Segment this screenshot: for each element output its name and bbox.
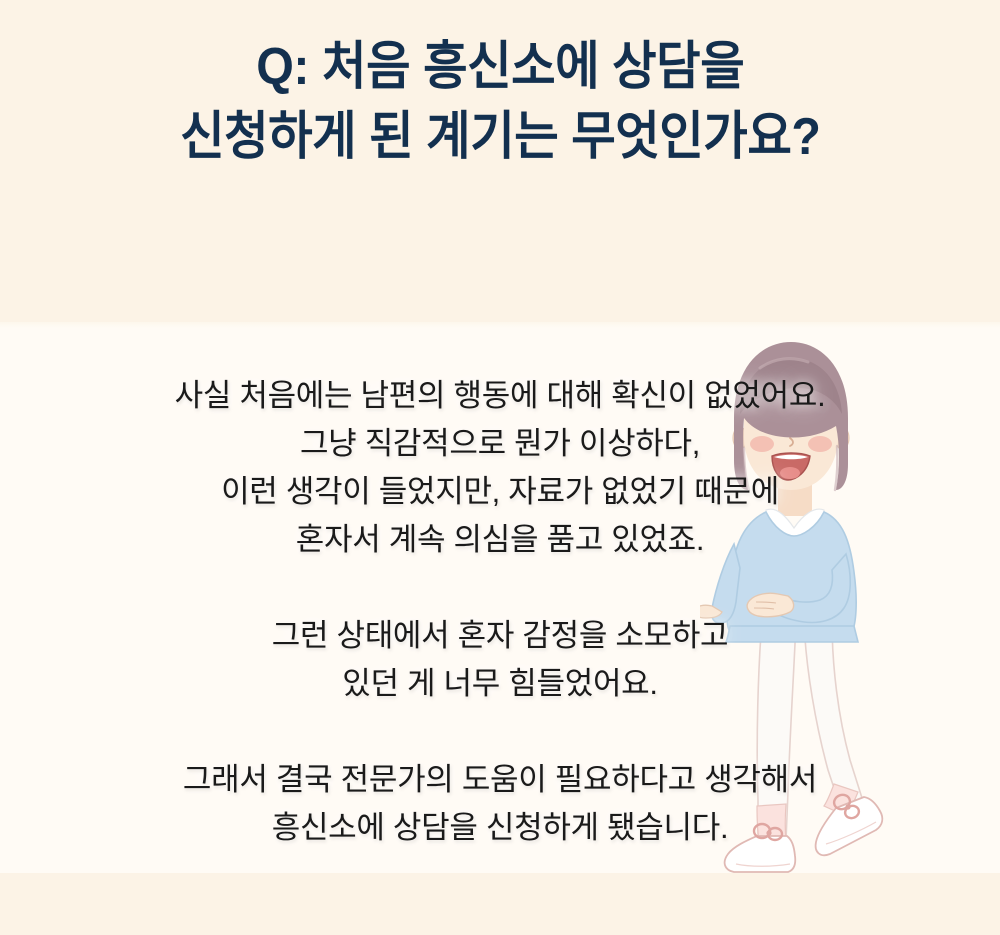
skirt-hem — [726, 626, 858, 642]
hand-right — [747, 593, 793, 617]
illustration-woman — [700, 340, 930, 880]
title-line-1: Q: 처음 흥신소에 상담을 — [180, 32, 820, 102]
body-top-fade — [0, 322, 1000, 328]
title-line-2: 신청하게 된 계기는 무엇인가요? — [180, 102, 820, 172]
header-band: Q: 처음 흥신소에 상담을 신청하게 된 계기는 무엇인가요? — [0, 0, 1000, 322]
cheek-left — [750, 436, 774, 452]
qa-card: Q: 처음 흥신소에 상담을 신청하게 된 계기는 무엇인가요? — [0, 0, 1000, 935]
page-title: Q: 처음 흥신소에 상담을 신청하게 된 계기는 무엇인가요? — [180, 32, 820, 172]
leg-right — [804, 620, 862, 806]
cheek-right — [808, 436, 832, 452]
bottom-band — [0, 873, 1000, 935]
tongue — [780, 467, 800, 479]
